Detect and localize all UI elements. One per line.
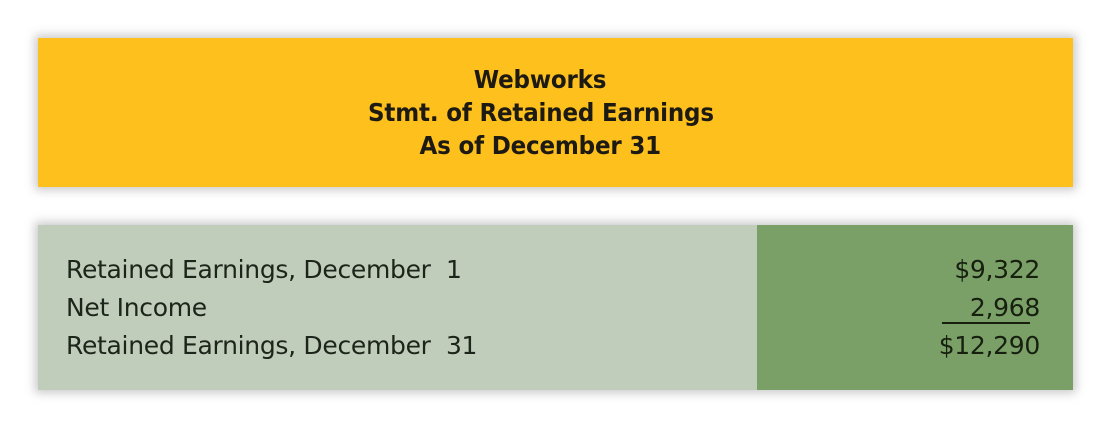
statement-rows: Retained Earnings, December 1 $9,322 Net… (38, 225, 1073, 390)
retained-earnings-statement-figure: Webworks Stmt. of Retained Earnings As o… (0, 0, 1111, 425)
row-amount: $12,290 (939, 327, 1040, 365)
statement-name: Stmt. of Retained Earnings (368, 96, 714, 129)
statement-period: As of December 31 (420, 129, 662, 162)
table-row: Retained Earnings, December 31 $12,290 (38, 327, 1073, 365)
statement-body-panel: Retained Earnings, December 1 $9,322 Net… (38, 225, 1073, 390)
company-name: Webworks (474, 63, 607, 96)
row-label: Retained Earnings, December 31 (66, 327, 477, 365)
statement-title-panel: Webworks Stmt. of Retained Earnings As o… (38, 38, 1073, 187)
row-label: Net Income (66, 289, 207, 327)
row-amount: $9,322 (954, 251, 1040, 289)
row-label: Retained Earnings, December 1 (66, 251, 462, 289)
subtotal-rule (942, 322, 1030, 324)
table-row: Retained Earnings, December 1 $9,322 (38, 251, 1073, 289)
table-row: Net Income 2,968 (38, 289, 1073, 327)
